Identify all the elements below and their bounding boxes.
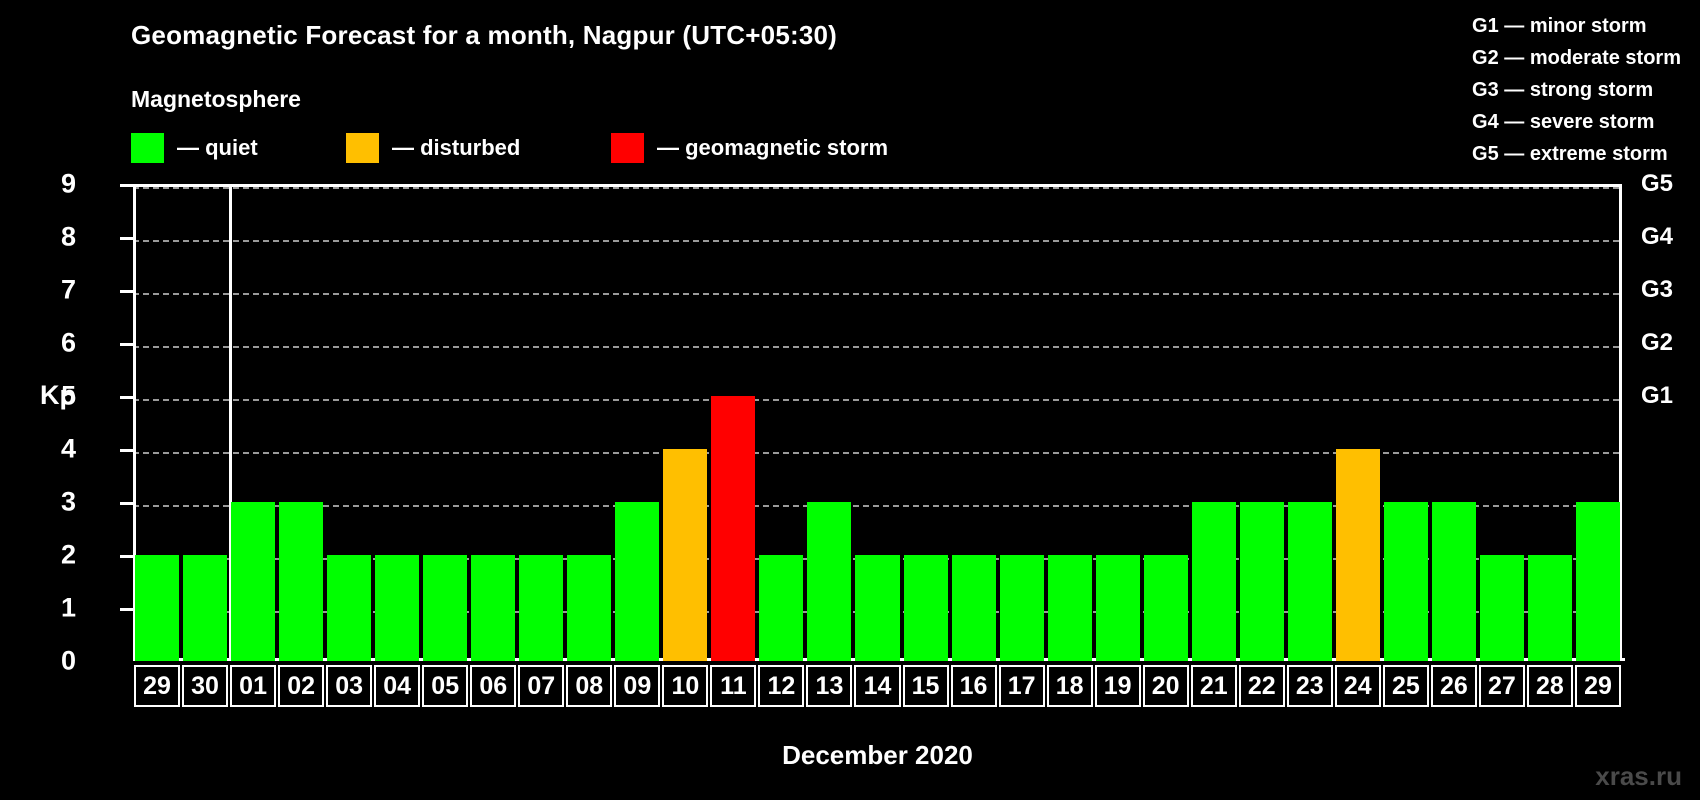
y-axis-tick-mark xyxy=(120,290,133,293)
y-axis-tick-mark xyxy=(120,237,133,240)
watermark: xras.ru xyxy=(1595,761,1682,792)
date-label[interactable]: 18 xyxy=(1047,665,1093,707)
bar[interactable] xyxy=(1240,502,1284,661)
date-label[interactable]: 08 xyxy=(566,665,612,707)
bar[interactable] xyxy=(135,555,179,661)
date-label[interactable]: 20 xyxy=(1143,665,1189,707)
date-label[interactable]: 10 xyxy=(662,665,708,707)
bar[interactable] xyxy=(1336,449,1380,661)
x-axis-label: December 2020 xyxy=(133,740,1622,771)
bar[interactable] xyxy=(375,555,419,661)
date-label[interactable]: 26 xyxy=(1431,665,1477,707)
g-scale-row: G3 — strong storm xyxy=(1472,74,1681,106)
date-label[interactable]: 11 xyxy=(710,665,756,707)
date-label[interactable]: 04 xyxy=(374,665,420,707)
date-label[interactable]: 15 xyxy=(903,665,949,707)
bar[interactable] xyxy=(1096,555,1140,661)
g-scale-row: G2 — moderate storm xyxy=(1472,42,1681,74)
bar[interactable] xyxy=(759,555,803,661)
date-label[interactable]: 02 xyxy=(278,665,324,707)
y-axis-tick-label: 2 xyxy=(61,540,76,571)
bar[interactable] xyxy=(471,555,515,661)
date-label[interactable]: 24 xyxy=(1335,665,1381,707)
date-label[interactable]: 13 xyxy=(806,665,852,707)
g-axis-tick-label: G3 xyxy=(1641,276,1673,304)
bar-series xyxy=(133,184,1622,661)
y-axis-tick-mark xyxy=(120,184,133,187)
bar[interactable] xyxy=(1288,502,1332,661)
date-label[interactable]: 06 xyxy=(470,665,516,707)
date-label[interactable]: 12 xyxy=(758,665,804,707)
y-axis-tick-label: 8 xyxy=(61,222,76,253)
date-label[interactable]: 29 xyxy=(1575,665,1621,707)
bar[interactable] xyxy=(807,502,851,661)
y-axis-tick-mark xyxy=(120,502,133,505)
bar[interactable] xyxy=(567,555,611,661)
g-scale-row: G1 — minor storm xyxy=(1472,10,1681,42)
bar[interactable] xyxy=(952,555,996,661)
date-label[interactable]: 01 xyxy=(230,665,276,707)
green-swatch xyxy=(131,133,164,163)
bar[interactable] xyxy=(423,555,467,661)
y-axis-tick-mark xyxy=(120,343,133,346)
y-axis-tick-label: 7 xyxy=(61,275,76,306)
y-axis-tick-mark xyxy=(120,555,133,558)
legend-item-label: — geomagnetic storm xyxy=(657,135,888,161)
bar[interactable] xyxy=(1480,555,1524,661)
legend-item: — quiet xyxy=(131,133,258,163)
date-label[interactable]: 29 xyxy=(134,665,180,707)
date-label[interactable]: 19 xyxy=(1095,665,1141,707)
date-label[interactable]: 09 xyxy=(614,665,660,707)
g-axis-tick-label: G1 xyxy=(1641,382,1673,410)
g-axis-tick-label: G2 xyxy=(1641,329,1673,357)
bar[interactable] xyxy=(1576,502,1620,661)
orange-swatch xyxy=(346,133,379,163)
legend-item: — disturbed xyxy=(346,133,520,163)
bar[interactable] xyxy=(231,502,275,661)
y-axis-tick-label: 3 xyxy=(61,487,76,518)
g-axis-tick-label: G4 xyxy=(1641,223,1673,251)
bar[interactable] xyxy=(519,555,563,661)
legend-item: — geomagnetic storm xyxy=(611,133,888,163)
x-axis-date-labels: 2930010203040506070809101112131415161718… xyxy=(133,665,1622,707)
bar[interactable] xyxy=(855,555,899,661)
date-label[interactable]: 27 xyxy=(1479,665,1525,707)
g-scale-legend: G1 — minor stormG2 — moderate stormG3 — … xyxy=(1472,10,1681,170)
legend: — quiet— disturbed— geomagnetic storm xyxy=(131,131,1031,165)
date-label[interactable]: 21 xyxy=(1191,665,1237,707)
g-scale-row: G4 — severe storm xyxy=(1472,106,1681,138)
date-label[interactable]: 14 xyxy=(854,665,900,707)
date-label[interactable]: 30 xyxy=(182,665,228,707)
y-axis-tick-label: 4 xyxy=(61,434,76,465)
date-label[interactable]: 03 xyxy=(326,665,372,707)
bar[interactable] xyxy=(1384,502,1428,661)
date-label[interactable]: 28 xyxy=(1527,665,1573,707)
y-axis-tick-mark xyxy=(120,608,133,611)
bar[interactable] xyxy=(183,555,227,661)
date-label[interactable]: 22 xyxy=(1239,665,1285,707)
date-label[interactable]: 16 xyxy=(951,665,997,707)
bar[interactable] xyxy=(327,555,371,661)
bar[interactable] xyxy=(1048,555,1092,661)
bar[interactable] xyxy=(615,502,659,661)
g-scale-row: G5 — extreme storm xyxy=(1472,138,1681,170)
y-axis-tick-mark xyxy=(120,396,133,399)
bar[interactable] xyxy=(1432,502,1476,661)
date-label[interactable]: 07 xyxy=(518,665,564,707)
legend-item-label: — disturbed xyxy=(392,135,520,161)
date-label[interactable]: 05 xyxy=(422,665,468,707)
bar[interactable] xyxy=(1528,555,1572,661)
date-label[interactable]: 25 xyxy=(1383,665,1429,707)
bar[interactable] xyxy=(904,555,948,661)
bar[interactable] xyxy=(711,396,755,661)
y-axis-tick-mark xyxy=(120,449,133,452)
page-title: Geomagnetic Forecast for a month, Nagpur… xyxy=(131,20,837,51)
y-axis-tick-label: 6 xyxy=(61,328,76,359)
bar[interactable] xyxy=(1192,502,1236,661)
g-axis-tick-label: G5 xyxy=(1641,170,1673,198)
red-swatch xyxy=(611,133,644,163)
date-label[interactable]: 23 xyxy=(1287,665,1333,707)
bar[interactable] xyxy=(1144,555,1188,661)
legend-item-label: — quiet xyxy=(177,135,258,161)
bar[interactable] xyxy=(663,449,707,661)
y-axis-tick-label: 5 xyxy=(61,381,76,412)
y-axis-tick-label: 9 xyxy=(61,169,76,200)
y-axis-tick-label: 1 xyxy=(61,593,76,624)
bar[interactable] xyxy=(1000,555,1044,661)
date-label[interactable]: 17 xyxy=(999,665,1045,707)
bar[interactable] xyxy=(279,502,323,661)
section-label-magnetosphere: Magnetosphere xyxy=(131,86,301,113)
y-axis-tick-label: 0 xyxy=(61,646,76,677)
